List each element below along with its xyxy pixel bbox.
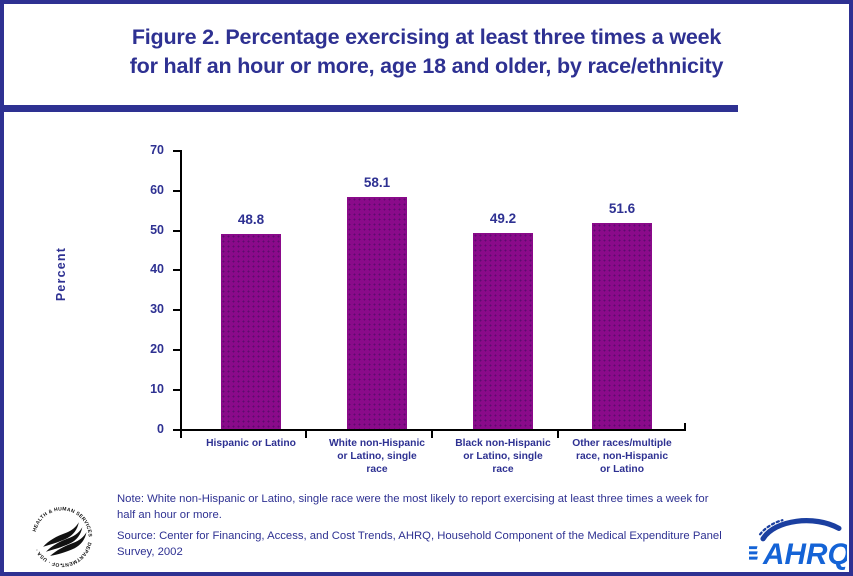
title-line-1: Figure 2. Percentage exercising at least… xyxy=(132,23,721,52)
cat-label-line: race xyxy=(436,463,570,476)
y-tick-label-0: 0 xyxy=(122,422,164,436)
y-tick-label-5: 50 xyxy=(122,223,164,237)
x-category-label-other-races: Other races/multiple race, non-Hispanic … xyxy=(555,437,689,476)
bar-other-races[interactable] xyxy=(592,223,652,429)
chart-source: Source: Center for Financing, Access, an… xyxy=(117,528,727,560)
cat-label-line: race, non-Hispanic xyxy=(555,450,689,463)
y-tick-label-6: 60 xyxy=(122,183,164,197)
y-tick-label-3: 30 xyxy=(122,302,164,316)
ahrq-logo-text: AHRQ xyxy=(762,538,847,570)
y-tick-3 xyxy=(173,309,181,311)
bar-hispanic-or-latino[interactable] xyxy=(221,234,281,429)
x-axis-endcap xyxy=(684,423,686,431)
bar-value-black-non-hispanic: 49.2 xyxy=(458,211,548,226)
cat-label-line: race xyxy=(310,463,444,476)
y-tick-2 xyxy=(173,349,181,351)
cat-label-line: White non-Hispanic xyxy=(310,437,444,450)
bar-chart: Percent 0 10 20 30 40 50 60 70 48.8 58.1 xyxy=(4,112,849,492)
x-category-label-hispanic-or-latino: Hispanic or Latino xyxy=(184,437,318,450)
y-axis-title: Percent xyxy=(54,214,68,334)
cat-label-line: or Latino xyxy=(555,463,689,476)
y-tick-7 xyxy=(173,150,181,152)
cat-label-line: or Latino, single xyxy=(310,450,444,463)
cat-label-line: or Latino, single xyxy=(436,450,570,463)
cat-label-line: Hispanic or Latino xyxy=(184,437,318,450)
y-tick-label-7: 70 xyxy=(122,143,164,157)
bar-value-white-non-hispanic: 58.1 xyxy=(332,175,422,190)
y-tick-4 xyxy=(173,269,181,271)
slide-canvas: Figure 2. Percentage exercising at least… xyxy=(0,0,853,576)
x-category-label-white-non-hispanic: White non-Hispanic or Latino, single rac… xyxy=(310,437,444,476)
bar-value-other-races: 51.6 xyxy=(577,201,667,216)
title-divider-bar xyxy=(4,105,738,112)
x-axis-line xyxy=(180,429,686,431)
cat-label-line: Black non-Hispanic xyxy=(436,437,570,450)
y-tick-label-2: 20 xyxy=(122,342,164,356)
bar-black-non-hispanic[interactable] xyxy=(473,233,533,429)
y-tick-1 xyxy=(173,389,181,391)
title-line-2: for half an hour or more, age 18 and old… xyxy=(130,52,724,81)
chart-note: Note: White non-Hispanic or Latino, sing… xyxy=(117,491,727,523)
y-tick-label-1: 10 xyxy=(122,382,164,396)
x-category-label-black-non-hispanic: Black non-Hispanic or Latino, single rac… xyxy=(436,437,570,476)
ahrq-logo: AHRQ xyxy=(749,512,847,570)
y-tick-label-4: 40 xyxy=(122,262,164,276)
cat-label-line: Other races/multiple xyxy=(555,437,689,450)
y-tick-6 xyxy=(173,190,181,192)
bar-white-non-hispanic[interactable] xyxy=(347,197,407,429)
y-tick-5 xyxy=(173,230,181,232)
x-tick-0 xyxy=(180,431,182,438)
bar-value-hispanic-or-latino: 48.8 xyxy=(206,212,296,227)
page-title: Figure 2. Percentage exercising at least… xyxy=(4,4,849,100)
hhs-seal-icon: HEALTH & HUMAN SERVICES DEPARTMENT OF · … xyxy=(26,502,98,572)
